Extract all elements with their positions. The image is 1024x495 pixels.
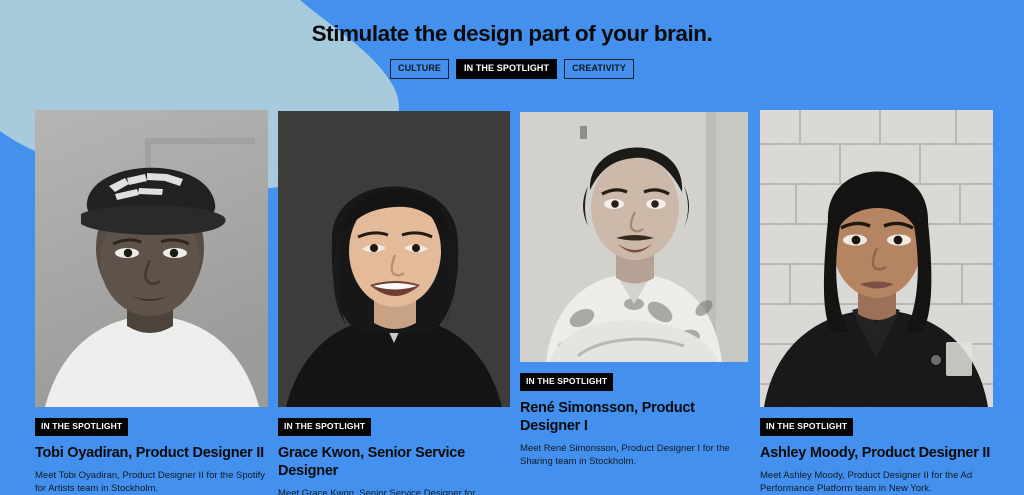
status-badge: IN THE SPOTLIGHT	[35, 418, 128, 436]
category-filter-chips: CULTURE IN THE SPOTLIGHT CREATIVITY	[0, 59, 1024, 79]
spotlight-card[interactable]: IN THE SPOTLIGHT René Simonsson, Product…	[520, 112, 748, 469]
card-description: Meet Tobi Oyadiran, Product Designer II …	[35, 469, 268, 495]
card-title: René Simonsson, Product Designer I	[520, 399, 748, 435]
card-description: Meet Grace Kwon, Senior Service Designer…	[278, 487, 510, 495]
status-badge: IN THE SPOTLIGHT	[760, 418, 853, 436]
spotlight-card[interactable]: IN THE SPOTLIGHT Tobi Oyadiran, Product …	[35, 110, 268, 495]
card-title: Ashley Moody, Product Designer II	[760, 444, 993, 462]
status-badge: IN THE SPOTLIGHT	[520, 373, 613, 391]
chip-creativity[interactable]: CREATIVITY	[564, 59, 634, 79]
status-badge: IN THE SPOTLIGHT	[278, 418, 371, 436]
card-photo-rene-simonsson	[520, 112, 748, 362]
card-description: Meet René Simonsson, Product Designer I …	[520, 442, 748, 469]
page-header: Stimulate the design part of your brain.…	[0, 0, 1024, 79]
spotlight-card[interactable]: IN THE SPOTLIGHT Grace Kwon, Senior Serv…	[278, 111, 510, 495]
card-photo-ashley-moody	[760, 110, 993, 407]
portrait-image	[520, 112, 748, 362]
portrait-image	[760, 110, 993, 407]
portrait-image	[35, 110, 268, 407]
spotlight-card[interactable]: IN THE SPOTLIGHT Ashley Moody, Product D…	[760, 110, 993, 495]
card-title: Grace Kwon, Senior Service Designer	[278, 444, 510, 480]
page-title: Stimulate the design part of your brain.	[0, 20, 1024, 48]
card-photo-tobi-oyadiran	[35, 110, 268, 407]
card-title: Tobi Oyadiran, Product Designer II	[35, 444, 268, 462]
portrait-image	[278, 111, 510, 407]
chip-in-the-spotlight[interactable]: IN THE SPOTLIGHT	[456, 59, 557, 79]
card-photo-grace-kwon	[278, 111, 510, 407]
card-description: Meet Ashley Moody, Product Designer II f…	[760, 469, 993, 495]
chip-culture[interactable]: CULTURE	[390, 59, 449, 79]
